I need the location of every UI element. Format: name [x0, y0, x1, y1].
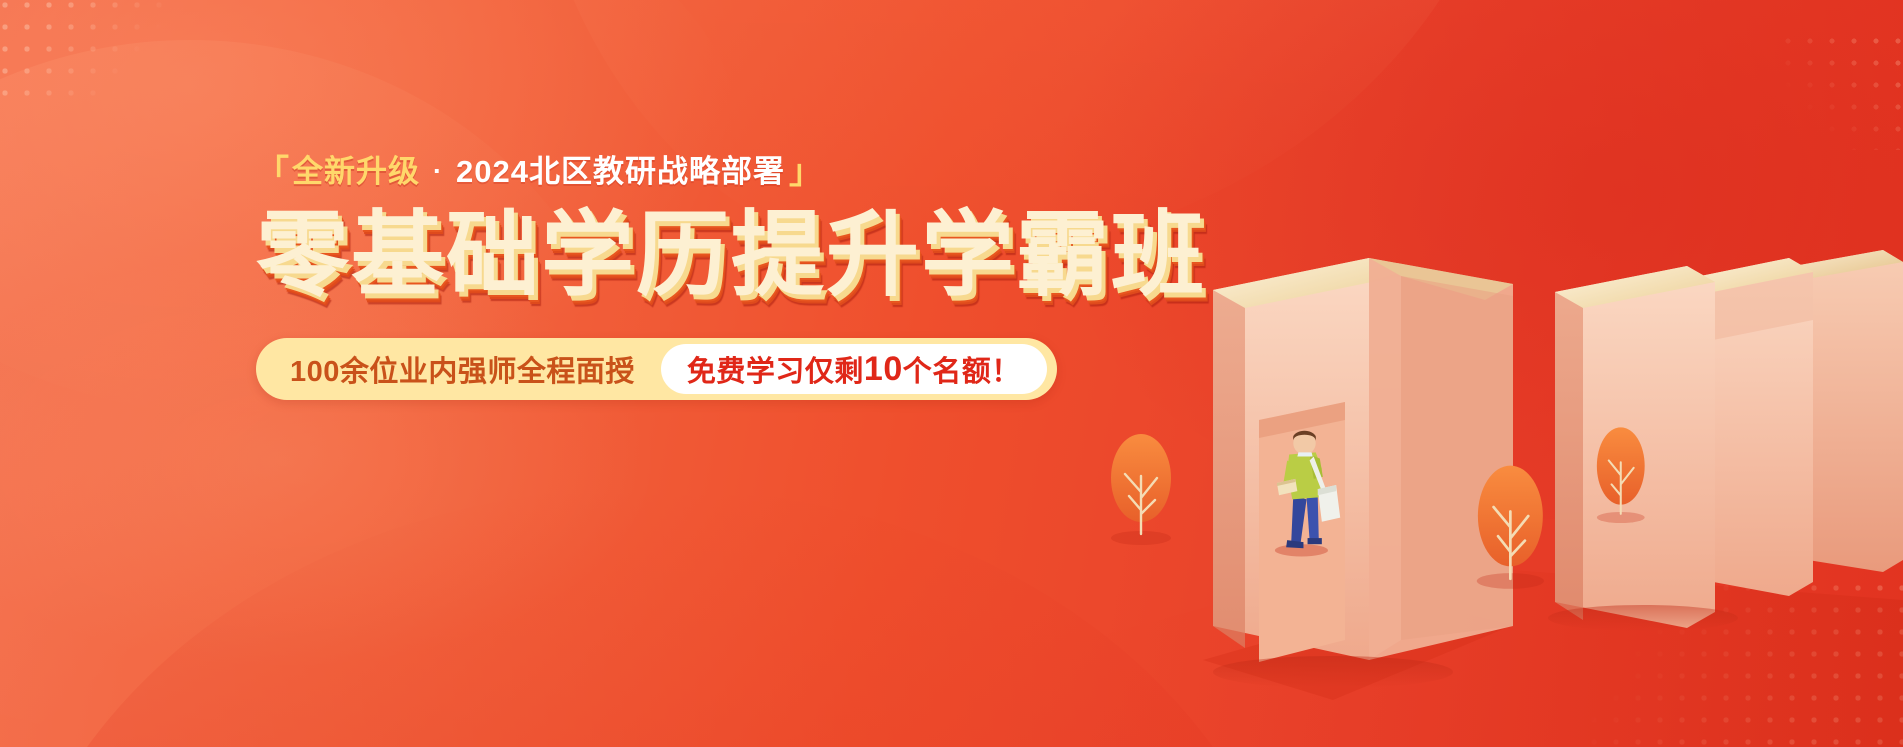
- bracket-close: 」: [789, 155, 823, 188]
- bracket-open: 「: [256, 155, 290, 188]
- promo-banner: 「 全新升级 · 2024北区教研战略部署 」 零基础学历提升学霸班 100余位…: [0, 0, 1903, 747]
- dot-pattern-top-left: [0, 0, 184, 104]
- illustration-books-gateway: [1083, 0, 1903, 747]
- subtitle-highlight: 全新升级: [292, 156, 420, 187]
- promo-badge-highlight[interactable]: 免费学习仅剩 10 个名额！: [661, 344, 1047, 394]
- promo-suffix: 个名额！: [903, 348, 1021, 390]
- promo-prefix: 免费学习仅剩: [687, 348, 864, 390]
- subtitle-main: 2024北区教研战略部署: [456, 156, 785, 187]
- promo-seat-count: 10: [864, 350, 903, 389]
- page-title: 零基础学历提升学霸班: [256, 209, 1076, 302]
- promo-badge-left-text: 100余位业内强师全程面授: [290, 348, 661, 390]
- subtitle-separator: ·: [433, 158, 443, 185]
- banner-text-block: 「 全新升级 · 2024北区教研战略部署 」 零基础学历提升学霸班 100余位…: [256, 155, 1076, 400]
- banner-subtitle: 「 全新升级 · 2024北区教研战略部署 」: [256, 155, 1076, 188]
- promo-badge[interactable]: 100余位业内强师全程面授 免费学习仅剩 10 个名额！: [256, 338, 1057, 400]
